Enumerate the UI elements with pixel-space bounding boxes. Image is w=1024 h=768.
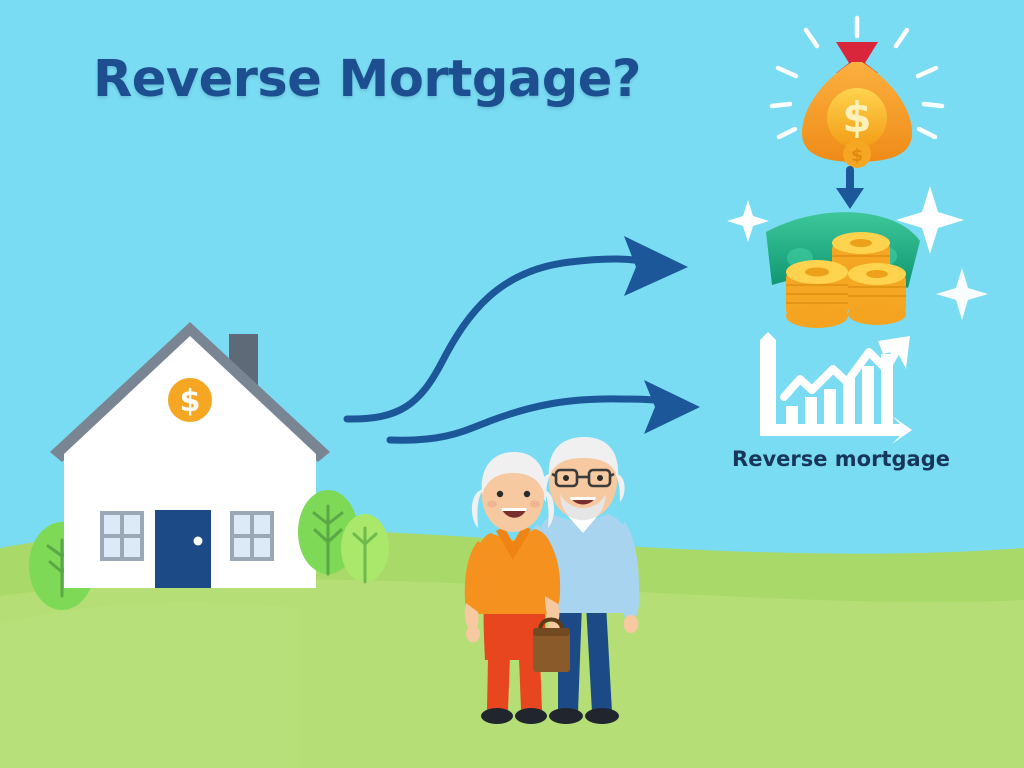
- flow-arrow-top: [347, 236, 688, 419]
- coin-stack-left: [786, 260, 848, 328]
- growth-chart-icon: [760, 332, 912, 444]
- svg-text:$: $: [851, 146, 863, 166]
- elderly-couple-illustration: [465, 437, 639, 724]
- tree-right-b: [341, 514, 389, 582]
- house-dollar-badge: $: [168, 378, 212, 422]
- artwork-layer: $: [0, 0, 1024, 768]
- door-knob-icon: [194, 537, 203, 546]
- infographic-canvas: $: [0, 0, 1024, 768]
- chart-bar: [805, 397, 817, 424]
- flow-arrow-bottom: [390, 380, 700, 440]
- chart-bar: [862, 366, 874, 424]
- svg-text:$: $: [180, 384, 201, 419]
- house-window-right: [232, 513, 272, 559]
- chart-bar: [786, 406, 798, 424]
- down-arrow-icon: [836, 170, 864, 209]
- house-door[interactable]: [155, 510, 211, 588]
- sparkle-star-bottom-right: [936, 268, 988, 320]
- page-title: Reverse Mortgage?: [0, 52, 1024, 108]
- falling-coin-icon: $: [843, 140, 871, 168]
- money-bag-icon: $ $: [772, 18, 942, 209]
- coin-stack-right: [848, 263, 906, 325]
- house-illustration: $: [50, 322, 330, 588]
- chart-y-axis: [760, 332, 776, 432]
- cash-and-coins-icon: [766, 212, 920, 328]
- house-window-left: [102, 513, 142, 559]
- sparkle-star-left: [727, 200, 769, 242]
- chart-caption: Reverse mortgage: [716, 447, 966, 471]
- person-woman: [465, 452, 562, 724]
- chart-bar: [824, 389, 836, 424]
